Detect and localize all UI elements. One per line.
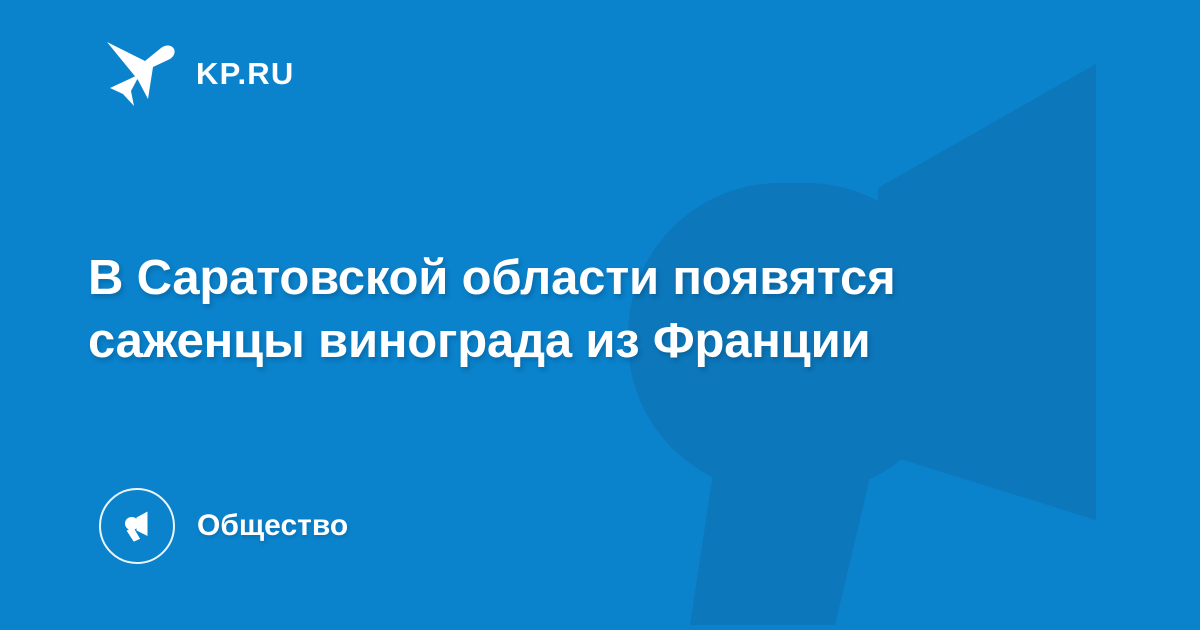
- category-badge[interactable]: Общество: [99, 486, 348, 566]
- category-label: Общество: [197, 511, 348, 541]
- headline-title: В Саратовской области появятся саженцы в…: [88, 247, 1088, 373]
- social-share-card: KP.RU В Саратовской области появятся саж…: [0, 0, 1200, 630]
- site-logo[interactable]: KP.RU: [104, 36, 294, 108]
- megaphone-icon: [99, 488, 175, 564]
- brand-wordmark: KP.RU: [196, 58, 294, 89]
- swallow-bird-icon: [104, 36, 178, 108]
